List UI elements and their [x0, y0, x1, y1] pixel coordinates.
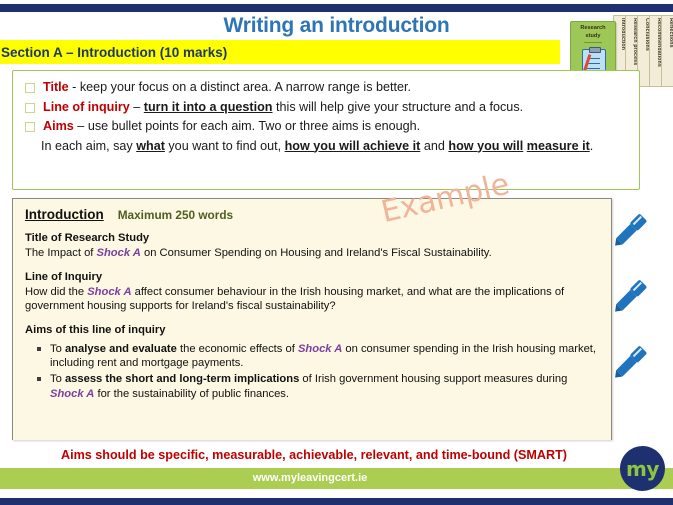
aim1-bold: analyse and evaluate	[65, 343, 177, 355]
bullet-square-icon	[37, 347, 41, 351]
list-item: To analyse and evaluate the economic eff…	[25, 342, 599, 371]
footer-url: www.myleavingcert.ie	[0, 472, 620, 484]
shock-a-token: Shock A	[298, 343, 342, 355]
shock-a-token: Shock A	[87, 286, 131, 298]
pen-icon	[608, 338, 654, 384]
aim1-mid: the economic effects of	[177, 343, 298, 355]
clipboard-line-2	[587, 63, 600, 64]
footer-band: www.myleavingcert.ie	[0, 468, 673, 489]
pen-icon	[608, 272, 654, 318]
instruction-sep-title: -	[69, 80, 80, 94]
inquiry-before: How did the	[25, 286, 87, 298]
instruction-keyword-title: Title	[43, 80, 69, 94]
clipboard-clip	[589, 47, 601, 53]
pen-icon	[608, 206, 654, 252]
cont-underline-measure: measure it	[527, 139, 590, 153]
instruction-item-title-text: Title - keep your focus on a distinct ar…	[43, 79, 629, 97]
bottom-accent-bar	[0, 498, 673, 505]
section-banner: Section A – Introduction (10 marks)	[0, 40, 560, 64]
cont-underline-how-will: how you will	[448, 139, 523, 153]
cont-lead: In each aim, say	[41, 139, 136, 153]
instruction-item-aims: Aims – use bullet points for each aim. T…	[25, 118, 629, 136]
example-aims-label: Aims of this line of inquiry	[25, 323, 599, 337]
instruction-body-aims: use bullet points for each aim. Two or t…	[88, 119, 420, 133]
section-banner-label: Section A – Introduction (10 marks)	[0, 45, 227, 60]
example-max-words: Maximum 250 words	[118, 208, 233, 222]
example-inquiry-label: Line of Inquiry	[25, 270, 599, 284]
shock-a-token: Shock A	[97, 247, 141, 259]
instruction-box: Title - keep your focus on a distinct ar…	[12, 70, 640, 190]
my-logo: my	[620, 446, 665, 491]
tab-label-reflections: Reflections	[668, 18, 673, 48]
instruction-item-line-of-inquiry: Line of inquiry – turn it into a questio…	[25, 99, 629, 117]
instruction-sep-inquiry: –	[130, 100, 144, 114]
bullet-square-icon	[37, 377, 41, 381]
instruction-body-title: keep your focus on a distinct area. A na…	[80, 80, 411, 94]
instruction-keyword-aims: Aims	[43, 119, 74, 133]
instruction-sep-aims: –	[74, 119, 88, 133]
checkbox-icon	[25, 103, 35, 113]
instruction-body-inquiry: this will help give your structure and a…	[273, 100, 524, 114]
list-item: To assess the short and long-term implic…	[25, 372, 599, 401]
aim2-mid: of Irish government housing support meas…	[299, 373, 567, 385]
example-title-body: The Impact of Shock A on Consumer Spendi…	[25, 246, 599, 261]
cont-underline-how-achieve: how you will achieve it	[285, 139, 421, 153]
cont-mid-1: you want to find out,	[165, 139, 285, 153]
shock-a-token: Shock A	[50, 388, 94, 400]
checkbox-icon	[25, 83, 35, 93]
cont-period: .	[590, 139, 594, 153]
research-study-cover-line1: Research	[571, 25, 615, 32]
research-study-cover-line2: study	[571, 33, 615, 40]
cont-mid-2: and	[420, 139, 448, 153]
smart-note: Aims should be specific, measurable, ach…	[14, 448, 614, 462]
aim1-lead: To	[50, 343, 65, 355]
checkbox-icon	[25, 122, 35, 132]
torn-paper-edge	[13, 436, 611, 440]
aim2-lead: To	[50, 373, 65, 385]
my-logo-text: my	[626, 459, 659, 479]
instruction-item-aims-text: Aims – use bullet points for each aim. T…	[43, 118, 629, 136]
title-after: on Consumer Spending on Housing and Irel…	[141, 247, 492, 259]
example-title-label: Title of Research Study	[25, 231, 599, 245]
instruction-underline-inquiry: turn it into a question	[144, 100, 273, 114]
tab-sheet-reflections: Reflections	[661, 15, 673, 87]
example-header: Introduction Maximum 250 words	[25, 207, 599, 222]
title-before: The Impact of	[25, 247, 97, 259]
instruction-keyword-inquiry: Line of inquiry	[43, 100, 130, 114]
aim2-tail: for the sustainability of public finance…	[94, 388, 289, 400]
example-heading: Introduction	[25, 207, 104, 222]
cont-underline-what: what	[136, 139, 165, 153]
example-answer-box: Introduction Maximum 250 words Title of …	[12, 198, 612, 440]
example-inquiry-body: How did the Shock A affect consumer beha…	[25, 285, 599, 314]
aim2-bold: assess the short and long-term implicati…	[65, 373, 299, 385]
instruction-continuation: In each aim, say what you want to find o…	[25, 138, 629, 156]
example-aim-1-text: To analyse and evaluate the economic eff…	[50, 342, 599, 371]
example-aim-2-text: To assess the short and long-term implic…	[50, 372, 599, 401]
instruction-item-inquiry-text: Line of inquiry – turn it into a questio…	[43, 99, 629, 117]
instruction-item-title: Title - keep your focus on a distinct ar…	[25, 79, 629, 97]
cover-rule	[584, 42, 602, 43]
